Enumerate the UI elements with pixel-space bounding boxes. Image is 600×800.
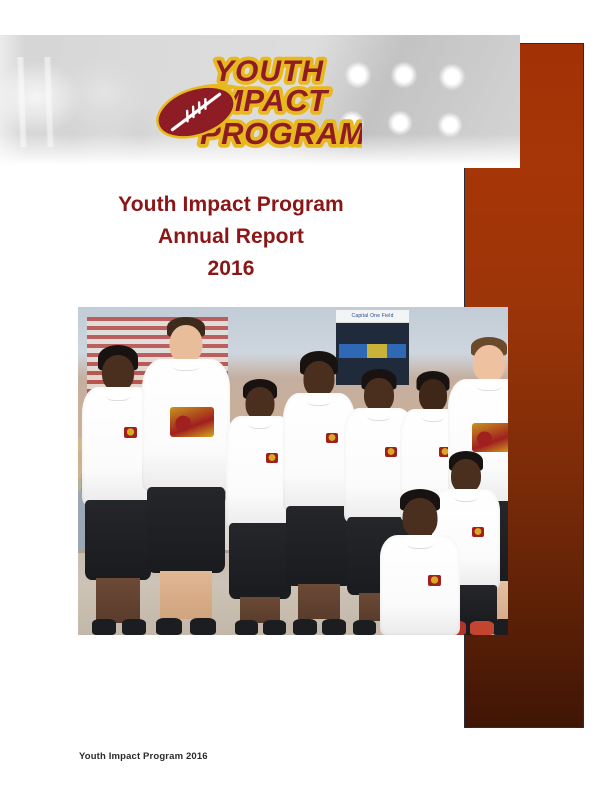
- report-cover-page: YOUTH IMPACT PROGRAM: [0, 0, 600, 800]
- youth-impact-program-logo: YOUTH IMPACT PROGRAM: [152, 48, 362, 160]
- shoe: [156, 618, 182, 635]
- shirt-logo: [385, 447, 397, 457]
- shirt-logo: [326, 433, 338, 443]
- head: [304, 361, 335, 397]
- head: [473, 345, 505, 382]
- title-line-1: Youth Impact Program: [0, 189, 462, 221]
- shirt-logo: [428, 575, 441, 586]
- photo-person: [378, 489, 462, 635]
- shorts: [147, 487, 225, 573]
- head: [403, 498, 438, 538]
- shirt-logo: [124, 427, 137, 438]
- head: [102, 355, 134, 391]
- collar: [172, 359, 200, 371]
- collar: [407, 535, 434, 549]
- scoreboard-label: Capital One Field: [336, 310, 409, 322]
- title-line-3: 2016: [0, 253, 462, 285]
- shirt-logo: [472, 423, 508, 452]
- footer-text: Youth Impact Program 2016: [79, 751, 208, 762]
- head: [364, 378, 394, 412]
- shirt-logo: [170, 407, 214, 437]
- collar: [105, 387, 131, 401]
- title-line-2: Annual Report: [0, 221, 462, 253]
- shoe: [353, 620, 376, 635]
- page-title: Youth Impact Program Annual Report 2016: [0, 189, 462, 285]
- legs: [298, 584, 340, 619]
- shoe: [190, 618, 216, 635]
- shoe: [92, 619, 116, 635]
- shoe: [470, 621, 494, 635]
- cover-photo: Capital One Field: [78, 307, 508, 635]
- collar: [248, 416, 272, 429]
- collar: [476, 379, 502, 391]
- collar: [422, 409, 445, 422]
- legs: [160, 571, 212, 619]
- collar: [367, 408, 391, 421]
- shoe: [235, 620, 258, 635]
- shirt-logo: [266, 453, 278, 463]
- shoe: [293, 619, 317, 635]
- photo-person: [140, 315, 232, 635]
- head: [419, 379, 447, 412]
- collar: [307, 393, 332, 406]
- head: [451, 459, 481, 493]
- shirt-logo: [472, 527, 484, 537]
- head: [170, 325, 203, 363]
- shirt: [380, 535, 460, 635]
- legs: [96, 578, 140, 623]
